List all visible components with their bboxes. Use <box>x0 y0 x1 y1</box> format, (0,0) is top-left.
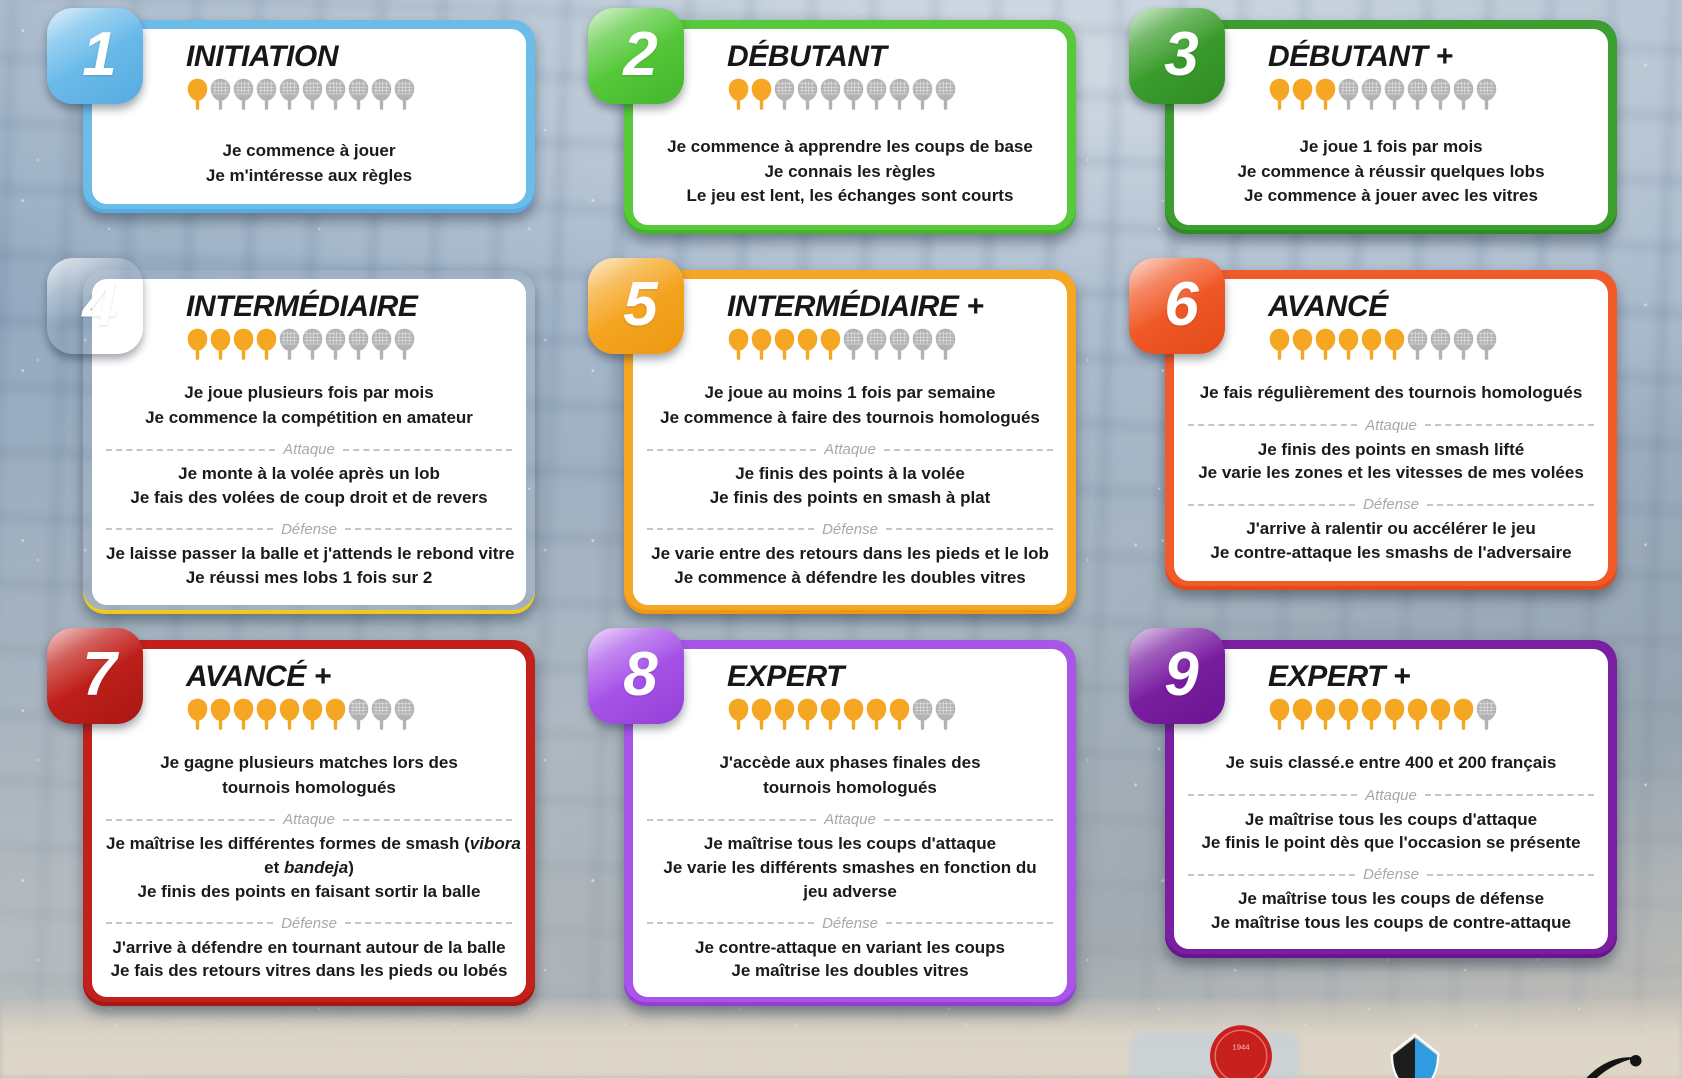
racket-empty-icon <box>393 77 416 111</box>
card-title: INITIATION <box>186 41 512 72</box>
section-label-defense: Défense <box>1363 866 1419 883</box>
racket-filled-icon <box>1360 697 1383 731</box>
level-card-5[interactable]: INTERMÉDIAIRE + <box>624 270 1076 614</box>
card-text-line: Je gagne plusieurs matches lors des <box>106 751 512 776</box>
card-text-line: Je maîtrise les doubles vitres <box>647 959 1053 983</box>
racket-empty-icon <box>209 77 232 111</box>
level-number-badge-3[interactable]: 3 <box>1129 8 1225 104</box>
level-number-badge-2[interactable]: 2 <box>588 8 684 104</box>
racket-empty-icon <box>370 327 393 361</box>
card-header: INITIATION <box>106 41 512 117</box>
racket-filled-icon <box>727 697 750 731</box>
racket-empty-icon <box>842 77 865 111</box>
section-body-attaque: Je finis des points à la voléeJe finis d… <box>647 462 1053 510</box>
racket-empty-icon <box>865 77 888 111</box>
racket-empty-icon <box>370 77 393 111</box>
divider-rule-left <box>1188 504 1355 506</box>
level-number-badge-5[interactable]: 5 <box>588 258 684 354</box>
section-label-defense: Défense <box>822 915 878 932</box>
section-body-attaque: Je finis des points en smash liftéJe var… <box>1188 438 1594 486</box>
divider-rule-right <box>1427 874 1594 876</box>
card-text-line: Je maîtrise tous les coups de contre-att… <box>1188 911 1594 935</box>
card-summary-lines: Je joue au moins 1 fois par semaineJe co… <box>647 381 1053 430</box>
section-divider-defense: Défense <box>1188 866 1594 883</box>
card-summary-lines: Je fais régulièrement des tournois homol… <box>1188 381 1594 406</box>
racket-filled-icon <box>1337 697 1360 731</box>
racket-empty-icon <box>278 77 301 111</box>
card-text-line: Je fais régulièrement des tournois homol… <box>1188 381 1594 406</box>
section-divider-attaque: Attaque <box>1188 787 1594 804</box>
card-title: EXPERT <box>727 661 1053 692</box>
section-label-attaque: Attaque <box>283 811 335 828</box>
racket-filled-icon <box>819 327 842 361</box>
card-header: EXPERT + <box>1188 661 1594 737</box>
club-shield-logo-icon <box>1376 1016 1454 1078</box>
section-divider-attaque: Attaque <box>106 441 512 458</box>
racket-filled-icon <box>819 697 842 731</box>
racket-empty-icon <box>934 77 957 111</box>
racket-empty-icon <box>911 327 934 361</box>
divider-rule-left <box>647 528 814 530</box>
racket-empty-icon <box>1475 327 1498 361</box>
section-label-defense: Défense <box>1363 496 1419 513</box>
level-card-slot-6: AVANCÉ <box>1147 270 1617 625</box>
level-card-slot-3: DÉBUTANT + <box>1147 20 1617 250</box>
racket-filled-icon <box>1291 77 1314 111</box>
divider-rule-right <box>884 449 1053 451</box>
card-inner-panel: EXPERT + <box>1174 649 1608 949</box>
racket-filled-icon <box>727 327 750 361</box>
level-card-8[interactable]: EXPERT <box>624 640 1076 1006</box>
racket-empty-icon <box>1429 77 1452 111</box>
card-title: INTERMÉDIAIRE <box>186 291 512 322</box>
racket-filled-icon <box>1268 697 1291 731</box>
card-inner-panel: DÉBUTANT <box>633 29 1067 225</box>
racket-rating <box>186 77 512 111</box>
card-text-line: Je finis des points à la volée <box>647 462 1053 486</box>
racket-empty-icon <box>1360 77 1383 111</box>
card-text-line: Je joue au moins 1 fois par semaine <box>647 381 1053 406</box>
racket-rating <box>1268 77 1594 111</box>
card-text-line: Je laisse passer la balle et j'attends l… <box>106 542 512 566</box>
card-text-line: Je joue plusieurs fois par mois <box>106 381 512 406</box>
racket-rating <box>1268 327 1594 361</box>
racket-empty-icon <box>1475 697 1498 731</box>
racket-empty-icon <box>911 697 934 731</box>
card-text-line: J'arrive à défendre en tournant autour d… <box>106 936 512 960</box>
racket-filled-icon <box>1268 77 1291 111</box>
racket-empty-icon <box>278 327 301 361</box>
racket-filled-icon <box>1314 697 1337 731</box>
racket-empty-icon <box>819 77 842 111</box>
card-text-line: Je commence à jouer <box>106 139 512 164</box>
divider-rule-right <box>886 528 1053 530</box>
section-body-defense: Je maîtrise tous les coups de défenseJe … <box>1188 887 1594 935</box>
racket-filled-icon <box>232 327 255 361</box>
level-card-slot-2: DÉBUTANT <box>606 20 1076 250</box>
racket-rating <box>186 697 512 731</box>
level-card-6[interactable]: AVANCÉ <box>1165 270 1617 590</box>
racket-empty-icon <box>301 77 324 111</box>
divider-rule-left <box>647 449 816 451</box>
racket-filled-icon <box>727 77 750 111</box>
racket-empty-icon <box>393 697 416 731</box>
racket-empty-icon <box>347 77 370 111</box>
racket-empty-icon <box>1383 77 1406 111</box>
card-text-line: Je finis le point dès que l'occasion se … <box>1188 831 1594 855</box>
card-text-line: tournois homologués <box>106 776 512 801</box>
card-text-line: Je maîtrise tous les coups d'attaque <box>647 832 1053 856</box>
card-inner-panel: DÉBUTANT + <box>1174 29 1608 225</box>
racket-filled-icon <box>865 697 888 731</box>
racket-empty-icon <box>934 327 957 361</box>
level-card-slot-9: EXPERT + <box>1147 640 1617 1010</box>
card-text-line: Je finis des points en smash à plat <box>647 486 1053 510</box>
racket-empty-icon <box>796 77 819 111</box>
section-label-attaque: Attaque <box>824 441 876 458</box>
racket-filled-icon <box>1406 697 1429 731</box>
racket-rating <box>1268 697 1594 731</box>
level-number: 2 <box>623 24 656 86</box>
level-number-badge-1[interactable]: 1 <box>47 8 143 104</box>
card-text-line: Le jeu est lent, les échanges sont court… <box>647 184 1053 209</box>
card-text-line: Je commence à défendre les doubles vitre… <box>647 566 1053 590</box>
racket-filled-icon <box>773 327 796 361</box>
card-text-line: Je commence à faire des tournois homolog… <box>647 406 1053 431</box>
racket-empty-icon <box>347 327 370 361</box>
racket-filled-icon <box>1337 327 1360 361</box>
section-label-defense: Défense <box>822 521 878 538</box>
divider-rule-left <box>1188 424 1357 426</box>
card-title: AVANCÉ + <box>186 661 512 692</box>
level-number-badge-6[interactable]: 6 <box>1129 258 1225 354</box>
card-header: INTERMÉDIAIRE + <box>647 291 1053 367</box>
racket-empty-icon <box>324 327 347 361</box>
divider-rule-right <box>345 922 512 924</box>
card-text-line: Je contre-attaque en variant les coups <box>647 936 1053 960</box>
section-divider-defense: Défense <box>647 521 1053 538</box>
divider-rule-left <box>106 922 273 924</box>
card-text-line: Je suis classé.e entre 400 et 200 frança… <box>1188 751 1594 776</box>
section-divider-defense: Défense <box>106 915 512 932</box>
level-number-badge-9[interactable]: 9 <box>1129 628 1225 724</box>
card-summary-lines: Je commence à jouerJe m'intéresse aux rè… <box>106 139 512 188</box>
racket-empty-icon <box>888 327 911 361</box>
brand-swoosh-logo-icon <box>1582 1030 1646 1078</box>
federation-logo-icon: 1944 <box>1198 1008 1284 1078</box>
level-number: 3 <box>1164 24 1197 86</box>
card-text-line: Je maîtrise les différentes formes de sm… <box>106 832 512 856</box>
card-text-line: Je varie entre des retours dans les pied… <box>647 542 1053 566</box>
racket-filled-icon <box>888 697 911 731</box>
card-summary-lines: Je gagne plusieurs matches lors destourn… <box>106 751 512 800</box>
racket-filled-icon <box>1383 327 1406 361</box>
svg-text:1944: 1944 <box>1232 1042 1250 1051</box>
section-label-defense: Défense <box>281 521 337 538</box>
racket-filled-icon <box>1268 327 1291 361</box>
card-text-line: Je varie les zones et les vitesses de me… <box>1188 461 1594 485</box>
racket-filled-icon <box>796 327 819 361</box>
card-text-line: Je commence à apprendre les coups de bas… <box>647 135 1053 160</box>
racket-empty-icon <box>911 77 934 111</box>
divider-rule-right <box>343 819 512 821</box>
racket-empty-icon <box>1406 327 1429 361</box>
racket-filled-icon <box>1314 77 1337 111</box>
level-card-slot-4: INTERMÉDIAIRE <box>65 270 535 625</box>
racket-empty-icon <box>347 697 370 731</box>
racket-empty-icon <box>324 77 347 111</box>
section-body-attaque: Je monte à la volée après un lobJe fais … <box>106 462 512 510</box>
card-header: DÉBUTANT + <box>1188 41 1594 117</box>
divider-rule-right <box>886 922 1053 924</box>
card-summary-lines: Je commence à apprendre les coups de bas… <box>647 135 1053 209</box>
section-body-defense: J'arrive à ralentir ou accélérer le jeuJ… <box>1188 517 1594 565</box>
racket-rating <box>727 327 1053 361</box>
section-body-attaque: Je maîtrise tous les coups d'attaqueJe f… <box>1188 808 1594 856</box>
card-text-line: J'arrive à ralentir ou accélérer le jeu <box>1188 517 1594 541</box>
card-text-line: Je réussi mes lobs 1 fois sur 2 <box>106 566 512 590</box>
level-card-1[interactable]: INITIATION <box>83 20 535 213</box>
card-text-line: Je finis des points en smash lifté <box>1188 438 1594 462</box>
level-card-9[interactable]: EXPERT + <box>1165 640 1617 958</box>
card-text-line: Je connais les règles <box>647 160 1053 185</box>
divider-rule-left <box>106 528 273 530</box>
section-body-defense: Je laisse passer la balle et j'attends l… <box>106 542 512 590</box>
racket-empty-icon <box>255 77 278 111</box>
racket-filled-icon <box>1429 697 1452 731</box>
card-text-line: Je joue 1 fois par mois <box>1188 135 1594 160</box>
section-body-defense: J'arrive à défendre en tournant autour d… <box>106 936 512 984</box>
level-number-badge-7[interactable]: 7 <box>47 628 143 724</box>
racket-filled-icon <box>1291 327 1314 361</box>
section-label-defense: Défense <box>281 915 337 932</box>
level-number: 1 <box>82 24 115 86</box>
racket-filled-icon <box>186 697 209 731</box>
section-divider-defense: Défense <box>1188 496 1594 513</box>
levels-grid: INITIATION <box>0 0 1682 1078</box>
racket-filled-icon <box>232 697 255 731</box>
card-text-line: tournois homologués <box>647 776 1053 801</box>
racket-empty-icon <box>393 327 416 361</box>
card-text-line: Je monte à la volée après un lob <box>106 462 512 486</box>
divider-rule-right <box>1425 794 1594 796</box>
card-summary-lines: Je joue plusieurs fois par moisJe commen… <box>106 381 512 430</box>
divider-rule-left <box>106 819 275 821</box>
racket-empty-icon <box>773 77 796 111</box>
racket-empty-icon <box>1337 77 1360 111</box>
card-text-line: Je maîtrise tous les coups d'attaque <box>1188 808 1594 832</box>
racket-filled-icon <box>278 697 301 731</box>
section-divider-attaque: Attaque <box>106 811 512 828</box>
level-card-4[interactable]: INTERMÉDIAIRE <box>83 270 535 614</box>
level-card-slot-5: INTERMÉDIAIRE + <box>606 270 1076 625</box>
card-inner-panel: INTERMÉDIAIRE <box>92 279 526 605</box>
section-body-attaque: Je maîtrise tous les coups d'attaqueJe v… <box>647 832 1053 903</box>
card-header: INTERMÉDIAIRE <box>106 291 512 367</box>
level-number: 6 <box>1164 274 1197 336</box>
racket-filled-icon <box>1314 327 1337 361</box>
racket-empty-icon <box>1429 327 1452 361</box>
racket-filled-icon <box>209 697 232 731</box>
racket-rating <box>727 77 1053 111</box>
racket-filled-icon <box>255 697 278 731</box>
card-title: EXPERT + <box>1268 661 1594 692</box>
divider-rule-right <box>1427 504 1594 506</box>
level-card-7[interactable]: AVANCÉ + <box>83 640 535 1006</box>
card-text-line: Je contre-attaque les smashs de l'advers… <box>1188 541 1594 565</box>
racket-filled-icon <box>842 697 865 731</box>
racket-filled-icon <box>186 327 209 361</box>
racket-filled-icon <box>186 77 209 111</box>
level-card-slot-7: AVANCÉ + <box>65 640 535 1010</box>
racket-filled-icon <box>750 77 773 111</box>
racket-empty-icon <box>1475 77 1498 111</box>
racket-empty-icon <box>1452 327 1475 361</box>
racket-empty-icon <box>370 697 393 731</box>
card-text-line: Je commence la compétition en amateur <box>106 406 512 431</box>
racket-empty-icon <box>865 327 888 361</box>
divider-rule-right <box>884 819 1053 821</box>
card-inner-panel: INTERMÉDIAIRE + <box>633 279 1067 605</box>
level-number: 4 <box>82 274 115 336</box>
card-summary-lines: Je suis classé.e entre 400 et 200 frança… <box>1188 751 1594 776</box>
card-text-line: et bandeja) <box>106 856 512 880</box>
card-text-line: Je m'intéresse aux règles <box>106 164 512 189</box>
section-divider-attaque: Attaque <box>647 811 1053 828</box>
card-title: INTERMÉDIAIRE + <box>727 291 1053 322</box>
racket-rating <box>727 697 1053 731</box>
racket-filled-icon <box>750 327 773 361</box>
card-inner-panel: EXPERT <box>633 649 1067 997</box>
level-card-3[interactable]: DÉBUTANT + <box>1165 20 1617 234</box>
racket-rating <box>186 327 512 361</box>
level-number-badge-8[interactable]: 8 <box>588 628 684 724</box>
card-summary-lines: Je joue 1 fois par moisJe commence à réu… <box>1188 135 1594 209</box>
racket-empty-icon <box>1452 77 1475 111</box>
racket-filled-icon <box>301 697 324 731</box>
card-text-line: Je fais des volées de coup droit et de r… <box>106 486 512 510</box>
partner-logos-strip: 1944 <box>1100 1016 1682 1078</box>
level-card-slot-8: EXPERT <box>606 640 1076 1010</box>
level-card-2[interactable]: DÉBUTANT <box>624 20 1076 234</box>
racket-empty-icon <box>934 697 957 731</box>
divider-rule-left <box>1188 874 1355 876</box>
racket-filled-icon <box>1452 697 1475 731</box>
level-number-badge-4[interactable]: 4 <box>47 258 143 354</box>
section-body-defense: Je varie entre des retours dans les pied… <box>647 542 1053 590</box>
section-label-attaque: Attaque <box>283 441 335 458</box>
racket-filled-icon <box>796 697 819 731</box>
level-number: 9 <box>1164 644 1197 706</box>
divider-rule-right <box>1425 424 1594 426</box>
divider-rule-left <box>106 449 275 451</box>
card-text-line: Je finis des points en faisant sortir la… <box>106 880 512 904</box>
racket-empty-icon <box>1406 77 1429 111</box>
card-header: DÉBUTANT <box>647 41 1053 117</box>
racket-empty-icon <box>888 77 911 111</box>
card-summary-lines: J'accède aux phases finales destournois … <box>647 751 1053 800</box>
section-label-attaque: Attaque <box>1365 787 1417 804</box>
racket-filled-icon <box>1383 697 1406 731</box>
card-text-line: Je commence à jouer avec les vitres <box>1188 184 1594 209</box>
card-title: AVANCÉ <box>1268 291 1594 322</box>
racket-filled-icon <box>1291 697 1314 731</box>
section-divider-attaque: Attaque <box>1188 417 1594 434</box>
divider-rule-left <box>647 922 814 924</box>
card-text-line: Je fais des retours vitres dans les pied… <box>106 959 512 983</box>
racket-filled-icon <box>209 327 232 361</box>
card-header: AVANCÉ <box>1188 291 1594 367</box>
card-text-line: Je maîtrise tous les coups de défense <box>1188 887 1594 911</box>
card-text-line: J'accède aux phases finales des <box>647 751 1053 776</box>
racket-filled-icon <box>255 327 278 361</box>
card-inner-panel: AVANCÉ + <box>92 649 526 997</box>
racket-filled-icon <box>324 697 347 731</box>
section-divider-defense: Défense <box>106 521 512 538</box>
card-inner-panel: AVANCÉ <box>1174 279 1608 581</box>
section-label-attaque: Attaque <box>1365 417 1417 434</box>
level-number: 8 <box>623 644 656 706</box>
racket-filled-icon <box>750 697 773 731</box>
racket-filled-icon <box>1360 327 1383 361</box>
section-label-attaque: Attaque <box>824 811 876 828</box>
section-divider-attaque: Attaque <box>647 441 1053 458</box>
racket-empty-icon <box>232 77 255 111</box>
card-header: EXPERT <box>647 661 1053 737</box>
level-number: 7 <box>82 644 115 706</box>
racket-filled-icon <box>773 697 796 731</box>
racket-empty-icon <box>842 327 865 361</box>
section-body-defense: Je contre-attaque en variant les coupsJe… <box>647 936 1053 984</box>
level-number: 5 <box>623 274 656 336</box>
card-text-line: Je varie les différents smashes en fonct… <box>647 856 1053 880</box>
divider-rule-right <box>345 528 512 530</box>
divider-rule-right <box>343 449 512 451</box>
racket-empty-icon <box>301 327 324 361</box>
card-text-line: Je commence à réussir quelques lobs <box>1188 160 1594 185</box>
section-divider-defense: Défense <box>647 915 1053 932</box>
card-header: AVANCÉ + <box>106 661 512 737</box>
level-card-slot-1: INITIATION <box>65 20 535 250</box>
card-inner-panel: INITIATION <box>92 29 526 204</box>
divider-rule-left <box>1188 794 1357 796</box>
card-title: DÉBUTANT + <box>1268 41 1594 72</box>
card-title: DÉBUTANT <box>727 41 1053 72</box>
card-text-line: jeu adverse <box>647 880 1053 904</box>
divider-rule-left <box>647 819 816 821</box>
section-body-attaque: Je maîtrise les différentes formes de sm… <box>106 832 512 903</box>
